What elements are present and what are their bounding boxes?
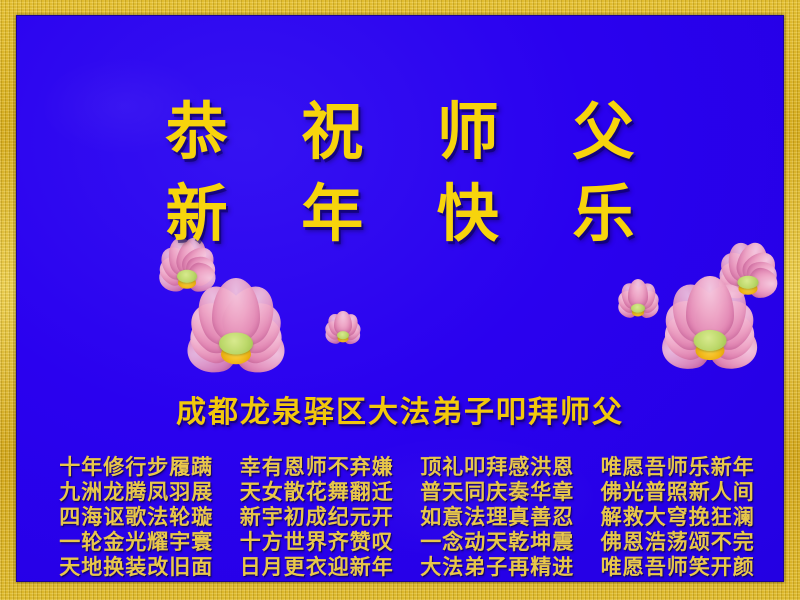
poem-line: 一轮金光耀宇寰: [50, 530, 223, 555]
poem-line: 日月更衣迎新年: [231, 555, 404, 580]
lotus-flower-icon: [321, 317, 365, 353]
lotus-seedpod: [738, 276, 759, 289]
lotus-flower-icon: [612, 287, 664, 329]
poem-column: 十年修行步履蹒 九洲龙腾凤羽展 四海讴歌法轮璇 一轮金光耀宇寰 天地换装改旧面: [50, 455, 223, 580]
poem-line: 如意法理真善忍: [411, 505, 584, 530]
lotus-seedpod: [177, 270, 197, 283]
poem-line: 天地换装改旧面: [50, 555, 223, 580]
poem-column: 唯愿吾师乐新年 佛光普照新人间 解救大穹挽狂澜 佛恩浩荡颂不完 唯愿吾师笑开颜: [592, 455, 765, 580]
poem-line: 幸有恩师不弃嫌: [231, 455, 404, 480]
poem-line: 唯愿吾师乐新年: [592, 455, 765, 480]
poem-line: 顶礼叩拜感洪恩: [411, 455, 584, 480]
poem-line: 四海讴歌法轮璇: [50, 505, 223, 530]
poem-line: 十方世界齐赞叹: [231, 530, 404, 555]
lotus-flower-icon: [176, 295, 296, 391]
poem-grid: 十年修行步履蹒 九洲龙腾凤羽展 四海讴歌法轮璇 一轮金光耀宇寰 天地换装改旧面 …: [50, 455, 764, 580]
poem-column: 幸有恩师不弃嫌 天女散花舞翻迁 新宇初成纪元开 十方世界齐赞叹 日月更衣迎新年: [231, 455, 404, 580]
poem-line: 解救大穹挽狂澜: [592, 505, 765, 530]
subtitle-signature: 成都龙泉驿区大法弟子叩拜师父: [16, 398, 784, 428]
lotus-seedpod: [631, 304, 645, 313]
poem-line: 大法弟子再精进: [411, 555, 584, 580]
poem-line: 一念动天乾坤震: [411, 530, 584, 555]
poem-line: 十年修行步履蹒: [50, 455, 223, 480]
lotus-seedpod: [694, 330, 727, 351]
headline-line-2: 新 年 快 乐: [16, 183, 784, 245]
card-blue-field: 恭 祝 师 父 新 年 快 乐 成都龙泉驿区大法弟子叩拜师父 十年修行步履蹒 九…: [16, 15, 784, 582]
greeting-card: 恭 祝 师 父 新 年 快 乐 成都龙泉驿区大法弟子叩拜师父 十年修行步履蹒 九…: [0, 0, 800, 600]
poem-line: 普天同庆奏华章: [411, 480, 584, 505]
poem-line: 天女散花舞翻迁: [231, 480, 404, 505]
poem-line: 唯愿吾师笑开颜: [592, 555, 765, 580]
lotus-seedpod: [337, 331, 349, 339]
poem-line: 新宇初成纪元开: [231, 505, 404, 530]
poem-column: 顶礼叩拜感洪恩 普天同庆奏华章 如意法理真善忍 一念动天乾坤震 大法弟子再精进: [411, 455, 584, 580]
poem-line: 佛恩浩荡颂不完: [592, 530, 765, 555]
headline-line-1: 恭 祝 师 父: [16, 101, 784, 163]
poem-line: 佛光普照新人间: [592, 480, 765, 505]
poem-line: 九洲龙腾凤羽展: [50, 480, 223, 505]
lotus-seedpod: [219, 332, 253, 354]
